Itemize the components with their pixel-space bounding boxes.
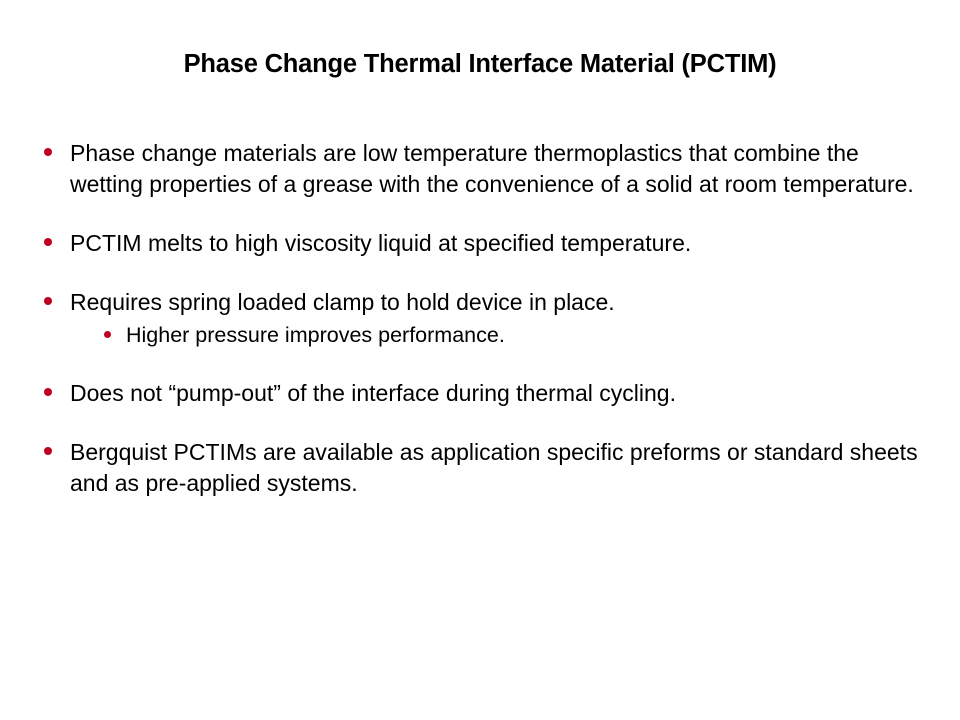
list-item: Requires spring loaded clamp to hold dev… — [40, 287, 920, 350]
sub-list-item: Higher pressure improves performance. — [102, 321, 920, 350]
list-item: PCTIM melts to high viscosity liquid at … — [40, 228, 920, 259]
list-item: Bergquist PCTIMs are available as applic… — [40, 437, 920, 499]
red-dot-bullet-icon — [44, 238, 52, 246]
red-dot-bullet-icon — [44, 447, 52, 455]
sub-bullet-list: Higher pressure improves performance. — [70, 321, 920, 350]
red-dot-bullet-icon — [44, 297, 52, 305]
list-item-text: Bergquist PCTIMs are available as applic… — [70, 437, 920, 499]
list-item: Does not “pump-out” of the interface dur… — [40, 378, 920, 409]
red-dot-sub-bullet-icon — [104, 331, 111, 338]
list-item: Phase change materials are low temperatu… — [40, 138, 920, 200]
red-dot-bullet-icon — [44, 388, 52, 396]
red-dot-bullet-icon — [44, 148, 52, 156]
page-title: Phase Change Thermal Interface Material … — [0, 50, 960, 79]
list-item-text: Requires spring loaded clamp to hold dev… — [70, 287, 920, 318]
list-item-text: Phase change materials are low temperatu… — [70, 138, 920, 200]
slide-canvas: Phase Change Thermal Interface Material … — [0, 0, 960, 720]
sub-list-item-text: Higher pressure improves performance. — [126, 321, 920, 350]
list-item-text: PCTIM melts to high viscosity liquid at … — [70, 228, 920, 259]
list-item-text: Does not “pump-out” of the interface dur… — [70, 378, 920, 409]
bullet-list: Phase change materials are low temperatu… — [40, 138, 920, 499]
